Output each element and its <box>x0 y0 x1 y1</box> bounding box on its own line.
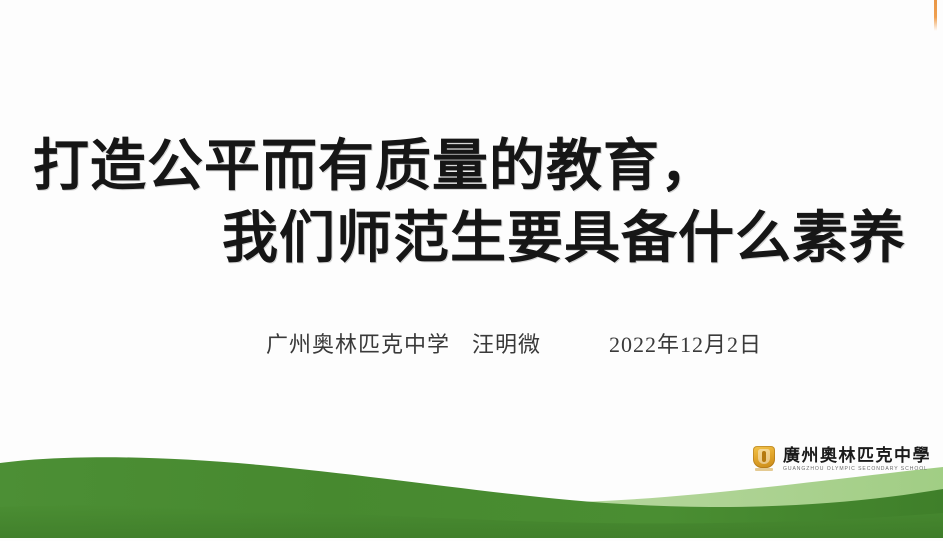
school-logo-text: 廣州奧林匹克中學 GUANGZHOU OLYMPIC SECONDARY SCH… <box>783 446 931 473</box>
slide-title: 打造公平而有质量的教育， 我们师范生要具备什么素养 <box>0 131 943 275</box>
slide-subtitle: 广州奥林匹克中学 汪明微 2022年12月2日 <box>266 327 762 359</box>
title-line-2: 我们师范生要具备什么素养 <box>0 203 943 275</box>
subtitle-author: 汪明微 <box>472 327 541 359</box>
top-right-accent-bar <box>934 0 937 31</box>
title-line-1: 打造公平而有质量的教育， <box>0 131 943 203</box>
subtitle-school: 广州奥林匹克中学 <box>266 327 450 359</box>
shield-emblem-icon <box>752 446 776 472</box>
subtitle-date: 2022年12月2日 <box>609 327 762 359</box>
presentation-slide: 打造公平而有质量的教育， 我们师范生要具备什么素养 广州奥林匹克中学 汪明微 2… <box>0 0 943 541</box>
school-name-cn: 廣州奧林匹克中學 <box>783 446 931 465</box>
school-name-en: GUANGZHOU OLYMPIC SECONDARY SCHOOL <box>783 465 934 473</box>
school-logo: 廣州奧林匹克中學 GUANGZHOU OLYMPIC SECONDARY SCH… <box>752 442 931 476</box>
